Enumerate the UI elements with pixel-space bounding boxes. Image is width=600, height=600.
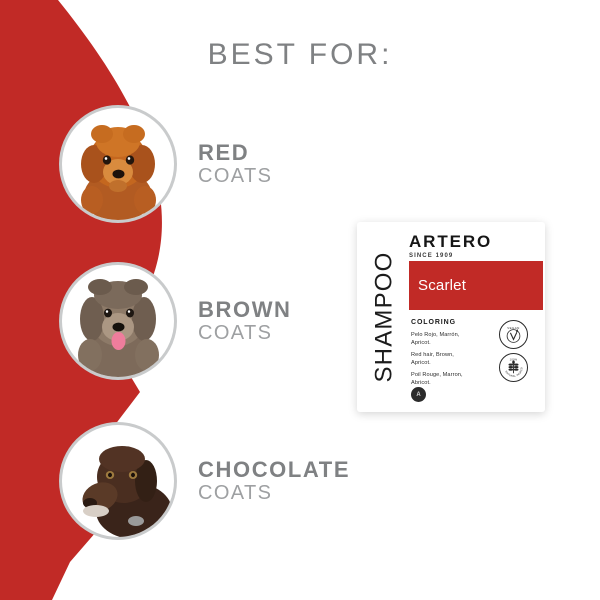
- coat-title: CHOCOLATE: [198, 459, 350, 481]
- coat-label-brown: BROWN COATS: [198, 299, 292, 344]
- coat-row-chocolate: CHOCOLATE COATS: [62, 425, 350, 537]
- product-category-text: SHAMPOO: [371, 251, 399, 382]
- coloring-line-fr: Poil Rouge, Marron, Abricot.: [411, 372, 489, 388]
- natural-ingredients-badge-icon: 100% NATURAL INGREDIENTS: [499, 353, 528, 382]
- red-poodle-illustration: [62, 108, 174, 220]
- coat-row-brown: BROWN COATS: [62, 265, 292, 377]
- vegan-badge-icon: VEGAN: [499, 320, 528, 349]
- coloring-block: COLORING Pelo Rojo, Marrón, Apricot. Red…: [411, 319, 489, 392]
- brown-labradoodle-illustration: [62, 265, 174, 377]
- coat-label-chocolate: CHOCOLATE COATS: [198, 459, 350, 504]
- chocolate-labrador-illustration: [62, 425, 174, 537]
- brand-since: SINCE 1909: [409, 253, 539, 259]
- dog-photo-red: [62, 108, 174, 220]
- coloring-line-en: Red hair, Brown, Apricot.: [411, 352, 489, 368]
- brand-name: ARTERO: [409, 233, 539, 250]
- coat-subtitle: COATS: [198, 323, 292, 343]
- coloring-title: COLORING: [411, 319, 489, 326]
- coat-title: RED: [198, 142, 272, 164]
- coat-subtitle: COATS: [198, 483, 350, 503]
- coat-label-red: RED COATS: [198, 142, 272, 187]
- dog-photo-brown: [62, 265, 174, 377]
- product-seal-letter: A: [416, 392, 420, 398]
- coloring-line-es: Pelo Rojo, Marrón, Apricot.: [411, 332, 489, 348]
- brand-block: ARTERO SINCE 1909: [409, 233, 539, 259]
- product-seal-icon: A: [411, 387, 426, 402]
- dog-photo-chocolate: [62, 425, 174, 537]
- coat-row-red: RED COATS: [62, 108, 272, 220]
- coat-title: BROWN: [198, 299, 292, 321]
- variant-band: Scarlet: [409, 261, 543, 310]
- variant-name: Scarlet: [418, 277, 466, 294]
- coat-subtitle: COATS: [198, 166, 272, 186]
- poster-canvas: BEST FOR:: [0, 0, 600, 600]
- product-label-card: SHAMPOO ARTERO SINCE 1909 Scarlet COLORI…: [357, 222, 545, 412]
- product-category-vertical: SHAMPOO: [364, 222, 406, 412]
- page-title: BEST FOR:: [0, 38, 600, 72]
